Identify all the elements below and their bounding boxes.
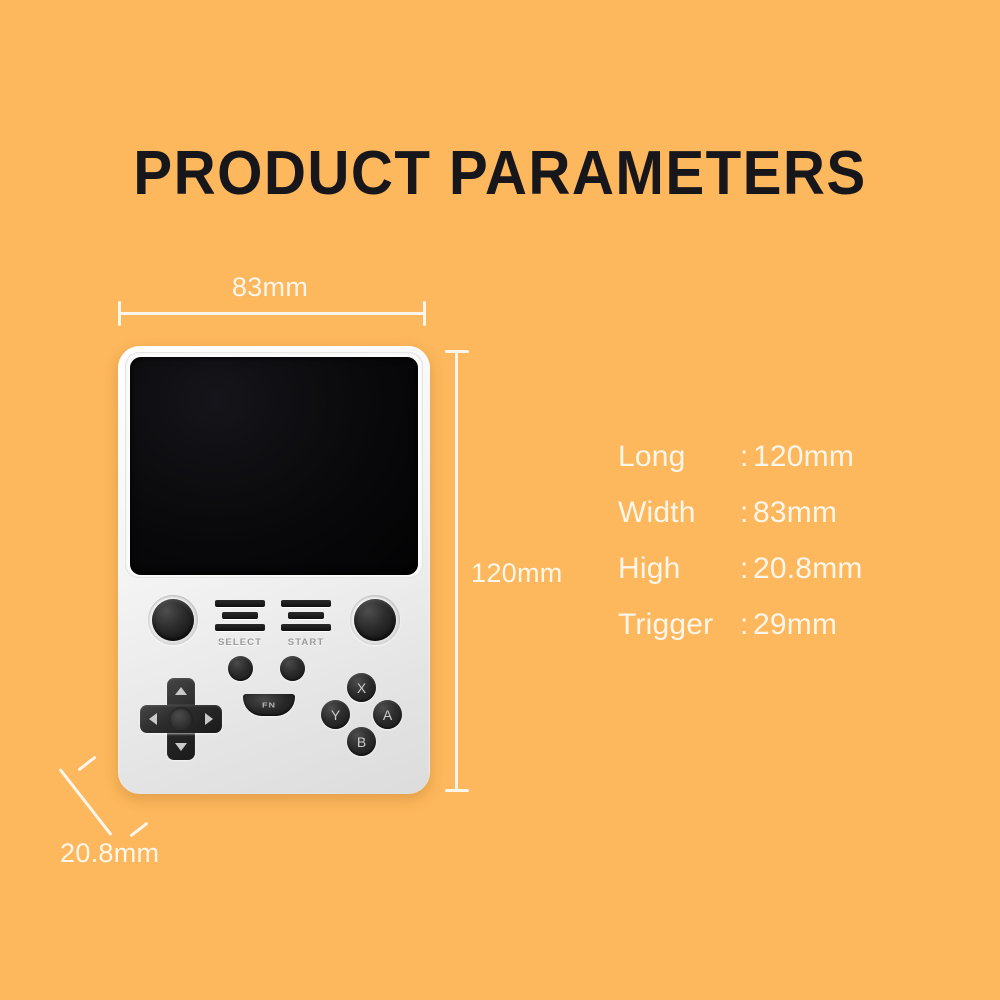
spec-value-width: 83mm	[753, 496, 958, 530]
analog-stick-right	[350, 595, 400, 645]
console-screen-bezel	[125, 352, 423, 578]
dimension-cap-depth-top	[77, 756, 96, 772]
select-bars-icon	[215, 600, 265, 631]
face-button-y: Y	[321, 700, 350, 729]
spec-row-high: High : 20.8mm	[618, 552, 958, 608]
dimension-cap-height-bottom	[445, 789, 469, 792]
start-bars-icon	[281, 600, 331, 631]
face-button-x: X	[347, 673, 376, 702]
fn-button: FN	[243, 694, 295, 716]
face-button-a: A	[373, 700, 402, 729]
start-button	[280, 656, 305, 681]
dimension-label-width: 83mm	[0, 272, 540, 303]
dimension-line-height	[455, 352, 458, 790]
spec-key-width: Width	[618, 496, 740, 530]
arrow-up-icon	[175, 687, 187, 695]
analog-stick-left	[148, 595, 198, 645]
dimension-label-height: 120mm	[471, 558, 563, 589]
console-screen	[130, 357, 418, 575]
dimension-line-width	[120, 312, 424, 315]
spec-value-high: 20.8mm	[753, 552, 958, 586]
dimension-cap-width-left	[118, 301, 121, 326]
dpad-center-dimple	[169, 707, 193, 731]
dpad	[140, 678, 222, 760]
dimension-cap-height-top	[445, 350, 469, 353]
console-control-deck: SELECT START FN X Y A B	[118, 578, 430, 794]
dimension-cap-width-right	[423, 301, 426, 326]
fn-button-label: FN	[262, 701, 276, 710]
spec-list: Long : 120mm Width : 83mm High : 20.8mm …	[618, 440, 958, 664]
handheld-console-image: SELECT START FN X Y A B	[118, 346, 430, 794]
spec-value-long: 120mm	[753, 440, 958, 474]
select-button	[228, 656, 253, 681]
spec-key-trigger: Trigger	[618, 608, 740, 642]
spec-row-width: Width : 83mm	[618, 496, 958, 552]
dimension-line-depth	[58, 768, 112, 836]
spec-value-trigger: 29mm	[753, 608, 958, 642]
arrow-left-icon	[149, 713, 157, 725]
page-title: PRODUCT PARAMETERS	[30, 138, 970, 209]
spec-separator-width: :	[740, 496, 753, 530]
arrow-right-icon	[205, 713, 213, 725]
spec-separator-long: :	[740, 440, 753, 474]
spec-key-high: High	[618, 552, 740, 586]
arrow-down-icon	[175, 743, 187, 751]
dimension-label-depth: 20.8mm	[60, 838, 159, 869]
spec-separator-trigger: :	[740, 608, 753, 642]
select-label: SELECT	[208, 637, 272, 648]
spec-separator-high: :	[740, 552, 753, 586]
product-parameters-infographic: PRODUCT PARAMETERS 83mm 120mm 20.8mm Lon…	[0, 0, 1000, 1000]
spec-row-long: Long : 120mm	[618, 440, 958, 496]
dimension-cap-depth-bottom	[129, 822, 148, 838]
spec-key-long: Long	[618, 440, 740, 474]
start-label: START	[274, 637, 338, 648]
spec-row-trigger: Trigger : 29mm	[618, 608, 958, 664]
face-button-b: B	[347, 727, 376, 756]
